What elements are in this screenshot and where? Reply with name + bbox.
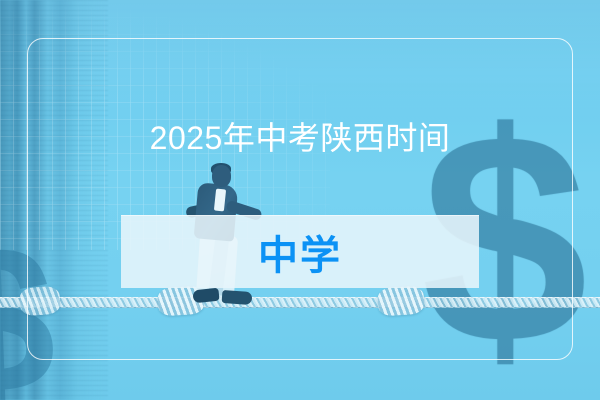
promo-banner: $ $ 2025年中考陕西时间 中学 (0, 0, 600, 400)
banner-headline: 2025年中考陕西时间 (0, 118, 600, 158)
decorative-border-frame (27, 38, 573, 360)
category-label: 中学 (121, 215, 479, 288)
